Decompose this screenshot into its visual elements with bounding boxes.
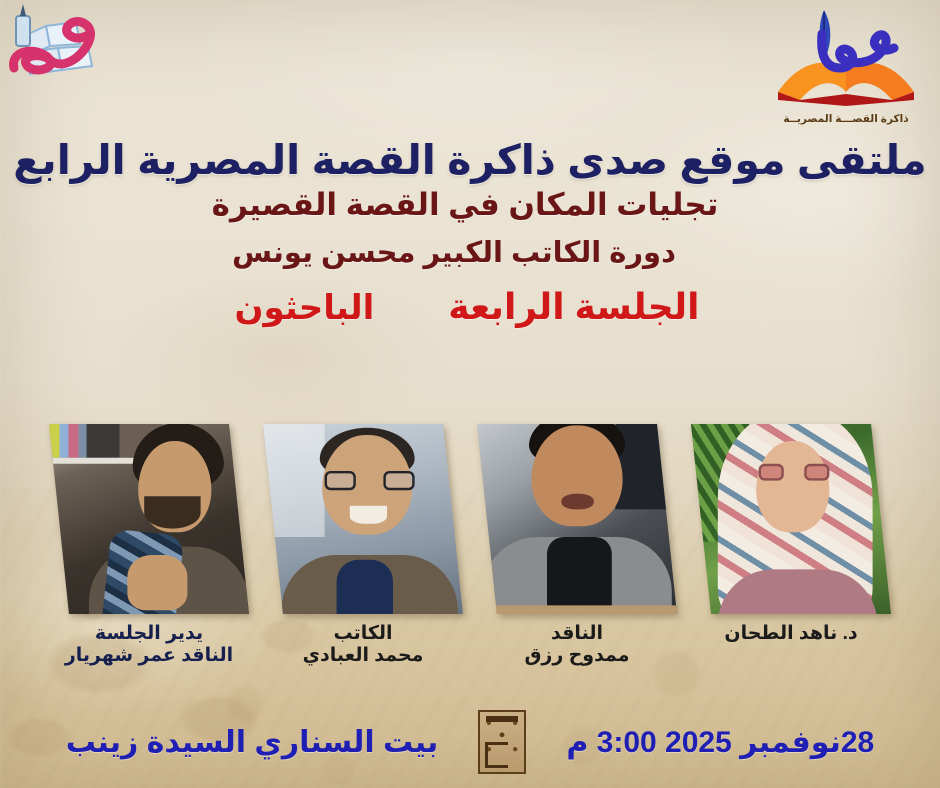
bayt-al-sennari-mashrabiya-logo — [478, 710, 526, 774]
event-poster: ذاكرة القصـــة المصريــة ملتقى موقع صدى … — [0, 0, 940, 788]
poster-theme: تجليات المكان في القصة القصيرة — [0, 188, 940, 222]
footer-bar: بيت السناري السيدة زينب 28نوفمبر 2025 3:… — [0, 710, 940, 774]
speaker-photo — [49, 424, 249, 614]
speaker-name: محمد العبادي — [267, 645, 459, 667]
researchers-label: الباحثون — [234, 288, 374, 328]
session-row: الجلسة الرابعة الباحثون — [0, 286, 940, 328]
speaker-card-nahed-eltahan: د. ناهد الطحان — [695, 424, 887, 645]
speaker-photo — [477, 424, 677, 614]
datetime-text: 28نوفمبر 2025 3:00 م — [566, 725, 874, 760]
speakers-row: يدير الجلسة الناقد عمر شهريار الكاتب محم… — [0, 424, 940, 667]
speaker-role: الناقد — [481, 623, 673, 645]
speaker-name: الناقد عمر شهريار — [53, 645, 245, 667]
page-title: ملتقى موقع صدى ذاكرة القصة المصرية الراب… — [0, 138, 940, 182]
speaker-card-omar-shahryar: يدير الجلسة الناقد عمر شهريار — [53, 424, 245, 667]
speaker-caption: د. ناهد الطحان — [695, 623, 887, 645]
headline-block: ملتقى موقع صدى ذاكرة القصة المصرية الراب… — [0, 138, 940, 328]
speaker-name: ممدوح رزق — [481, 645, 673, 667]
speaker-card-mohamed-elabady: الكاتب محمد العبادي — [267, 424, 459, 667]
venue-text: بيت السناري السيدة زينب — [66, 725, 439, 760]
books-and-script-logo — [6, 2, 118, 106]
speaker-photo — [263, 424, 463, 614]
speaker-name: د. ناهد الطحان — [695, 623, 887, 645]
speaker-role: الكاتب — [267, 623, 459, 645]
speaker-role: يدير الجلسة — [53, 623, 245, 645]
speaker-photo — [691, 424, 891, 614]
speaker-caption: الكاتب محمد العبادي — [267, 623, 459, 667]
logo-caption: ذاكرة القصـــة المصريــة — [770, 113, 922, 125]
session-label: الجلسة الرابعة — [448, 286, 699, 328]
speaker-caption: يدير الجلسة الناقد عمر شهريار — [53, 623, 245, 667]
sada-open-book-logo: ذاكرة القصـــة المصريــة — [770, 4, 922, 140]
speaker-card-mamdouh-rezk: الناقد ممدوح رزق — [481, 424, 673, 667]
poster-edition: دورة الكاتب الكبير محسن يونس — [0, 238, 940, 270]
speaker-caption: الناقد ممدوح رزق — [481, 623, 673, 667]
